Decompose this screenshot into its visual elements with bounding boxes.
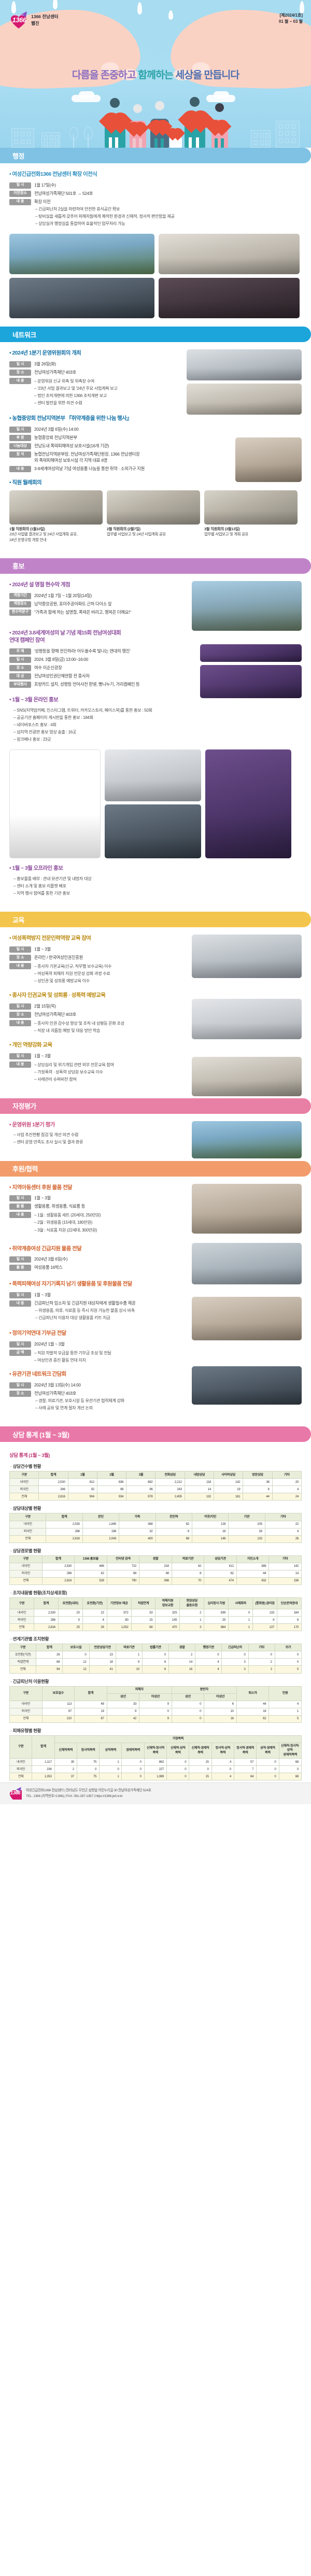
table-cell: 2,816 [46, 1535, 82, 1542]
sub-item: 직원 자발적 모금을 통한 기부금 조성 및 전달 [34, 1350, 111, 1356]
footer-logo-icon: 1366 [8, 1787, 22, 1801]
table-cell: 98 [97, 1486, 126, 1493]
table-row-label: 전체 [10, 1624, 34, 1631]
info-row: 일 시 2024년 3월 13일(수) 14:00 [9, 1382, 180, 1389]
table-cell: 142 [214, 1479, 243, 1486]
sub-item: 상담실과 행정실을 통합하여 효율적인 업무처리 가능 [35, 221, 302, 227]
photo-display-board[interactable] [205, 749, 291, 858]
table-header-cell: 정서적폭력 [77, 1743, 99, 1758]
row-tag: 주 제 [9, 648, 31, 655]
hands-illustration [0, 0, 311, 62]
row-text: 1월 ~ 3월 [34, 1195, 51, 1201]
row-text: 1월 ~ 3월 [34, 1292, 51, 1298]
table-cell: 0 [172, 1715, 204, 1722]
table-row: 전체2,8169049349782,4551321614424 [10, 1493, 302, 1501]
info-row: 나눔대상 전남도내 폭력피해여성 보호시설(16개 기관) [9, 443, 217, 449]
table-cell: 978 [126, 1493, 155, 1501]
item-network-2: 직원 월례회의 1월 직원회의 (1월10일) 23년 사업별 결과보고 및 2… [9, 479, 302, 543]
table-cell: 0 [172, 1708, 204, 1715]
table-cell: 35 [54, 1759, 77, 1766]
photo-sns-post[interactable] [9, 749, 101, 858]
table-cell: 62 [172, 1563, 204, 1570]
table-cell: 24 [272, 1493, 301, 1501]
photo-caption: 2월 직원회의 (2월7일) 업무별 사업보고 및 24년 사업계획 공유 [107, 527, 200, 537]
info-row: 장 소 전남여성가족재단 403호 [9, 1390, 180, 1397]
table-cell: 3 [222, 1666, 248, 1673]
table-cell: 0 [77, 1766, 99, 1773]
table-cell: 20 [58, 1609, 82, 1617]
table-row-label: 내국인 [10, 1609, 34, 1617]
item-network-0: 2024년 1분기 운영위원회의 개최 일 시 3월 26일(화) 장 소 전남… [9, 349, 175, 406]
sub-item: 3월 : 식료품 지원 (22세대, 300만원) [34, 1227, 101, 1234]
table-cell: 68 [107, 1570, 139, 1577]
info-row: 이전장소 전남여성가족재단 501호 → 524호 [9, 190, 302, 197]
table-cell: 366 [139, 1577, 172, 1584]
photo-banner-outdoor[interactable] [192, 581, 302, 631]
table-row: 외국인286548015145125146 [10, 1617, 302, 1624]
table-cell: 0 [257, 1766, 279, 1773]
table-cell: 14 [169, 1659, 195, 1666]
row-text: 2024년 1월 7일 ~ 1월 20일(14일) [34, 592, 92, 599]
table-cell: 722 [107, 1563, 139, 1570]
table-header-cell: 기타 [248, 1644, 275, 1651]
table-cell: 19 [75, 1708, 107, 1715]
table-row-label: 외국인 [10, 1528, 46, 1535]
statistics-area: 상담 통계 (1월 ~ 3월)상담건수별 현황구분합계1월2월3월전화상담내방상… [0, 1442, 311, 1780]
stat-table-title: 상담건수별 현황 [10, 1463, 311, 1469]
photo-campaign-1[interactable] [200, 644, 302, 662]
row-tag: 내 용 [9, 466, 31, 472]
stat-table: 구분합계보호시설전문상담기관의료기관법률기관경찰행정기관긴급피난처기타귀가호전환… [9, 1644, 302, 1673]
table-cell: 0 [63, 1651, 89, 1659]
people-illustration [0, 86, 311, 148]
table-row: 전체2,8162,0434006814613326 [10, 1535, 302, 1542]
table-cell: 20 [272, 1479, 301, 1486]
issue-period: 01 월 ~ 03 월 [279, 19, 303, 25]
photo-capacity-edu[interactable] [192, 1057, 302, 1096]
photo-donation-event[interactable] [235, 437, 302, 482]
table-cell: 10 [116, 1666, 142, 1673]
table-cell: 48 [139, 1570, 172, 1577]
hero-title-part3: 세상을 만듭니다 [175, 69, 239, 81]
info-row: 장 소 전남여성가족재단 403호 [9, 369, 175, 376]
table-header-cell: 성년 [172, 1693, 204, 1701]
table-cell: 4 [272, 1486, 301, 1493]
item-rows: 일 시 2024년 3월 13일(수) 14:00 장 소 전남여성가족재단 4… [9, 1382, 180, 1397]
caption-title: 3월 직원회의 (3월13일) [204, 527, 240, 531]
table-cell: 133 [253, 1609, 277, 1617]
table-row: 내국인1134833906444 [10, 1701, 302, 1708]
sub-item: 네이버포스트 홍보 : 4회 [13, 722, 302, 728]
table-cell: 12 [63, 1659, 89, 1666]
table-cell: 9 [107, 1708, 139, 1715]
stat-table-title: 상담대상별 현황 [10, 1505, 311, 1511]
table-cell: 105 [229, 1521, 265, 1528]
sub-item: 종사자 인권 감수성 향상 및 조직 내 성평등 문화 조성 [34, 1021, 124, 1027]
table-cell: 68 [131, 1624, 155, 1631]
table-header-cell: 신체적폭력 [54, 1743, 77, 1758]
table-header-cell: 성년 [107, 1693, 139, 1701]
row-tag: 일 시 [9, 1341, 31, 1348]
table-header-cell: 긴급피난처 [222, 1644, 248, 1651]
item-title: 유관기관 네트워크 간담회 [9, 1370, 180, 1378]
table-cell: 2 [169, 1651, 195, 1659]
table-cell: 53 [131, 1609, 155, 1617]
table-header-cell: 구분 [10, 1735, 32, 1758]
table-cell: 14 [185, 1486, 214, 1493]
sub-item: 홍보물품 배부 : 관내 유관기관 및 내방자 대상 [13, 876, 302, 882]
row-tag: 내 용 [9, 1212, 31, 1218]
table-header-cell: 기타 [265, 1513, 301, 1521]
table-header-cell: 기관 [229, 1513, 265, 1521]
table-cell: 210 [42, 1715, 75, 1722]
table-cell: 0 [122, 1759, 144, 1766]
table-cell: 0 [229, 1609, 253, 1617]
item-title: 개인 역량강화 교육 [9, 1041, 180, 1049]
info-row: 장 소 온라인 / 한국여성인권진흥원 [9, 954, 180, 961]
sub-item: 사례 공유 및 연계 절차 개선 논의 [35, 1405, 180, 1411]
item-title: 2024년 설 명절 현수막 게첨 [9, 581, 180, 589]
table-cell: 132 [185, 1493, 214, 1501]
table-header-cell: 사례회의 [229, 1597, 253, 1609]
table-cell: 790 [107, 1577, 139, 1584]
table-cell: 2,530 [42, 1563, 75, 1570]
photo-goods-delivery[interactable] [192, 1184, 302, 1234]
table-header-cell: 지인소개 [236, 1555, 269, 1563]
table-cell: 3 [222, 1659, 248, 1666]
table-cell: 286 [46, 1528, 82, 1535]
row-tag: 물 품 [9, 1265, 31, 1271]
stat-table-title: 긴급피난처 이용현황 [10, 1678, 311, 1685]
table-cell: 118 [185, 1479, 214, 1486]
photo-committee-screen[interactable] [187, 349, 302, 380]
table-header-cell: 구분 [10, 1513, 46, 1521]
row-tag: 물 품 [9, 1204, 31, 1210]
table-cell: 2 [54, 1766, 77, 1773]
table-header-cell: 2월 [97, 1471, 126, 1479]
info-row: 내 용 3·8세계여성의날 기념 여성용품 나눔을 통한 취약 · 소외가구 지… [9, 465, 217, 472]
row-text: 1월 17일(수) [34, 182, 56, 188]
table-cell: 1 [100, 1759, 122, 1766]
table-row-label: 전체 [10, 1715, 43, 1722]
table-cell: 145 [155, 1617, 180, 1624]
table-header-cell: 성적·경제적 폭력 [257, 1743, 279, 1758]
row-tag: 장 소 [9, 665, 31, 671]
sub-item: 센터 운영 만족도 조사 실시 및 결과 환류 [13, 1139, 180, 1145]
sub-item: 사업 추진현황 점검 및 개선 의견 수렴 [13, 1132, 180, 1138]
table-cell: 4 [195, 1659, 222, 1666]
table-cell: 2,816 [42, 1577, 75, 1584]
photo-block: 1월 직원회의 (1월10일) 23년 사업별 결과보고 및 24년 사업계획 … [9, 490, 103, 543]
row-tag: 일 시 [9, 1256, 31, 1263]
table-cell: 67 [75, 1715, 107, 1722]
row-tag: 장 소 [9, 955, 31, 961]
sub-list: 홍보물품 배부 : 관내 유관기관 및 내방자 대상 센터 소개 및 홍보 리플… [9, 876, 302, 897]
photo-mar-meeting[interactable] [204, 490, 298, 525]
table-header-cell: 피해지원 정보교환 [155, 1597, 180, 1609]
sub-item: 여성폭력 피해자 지원 전문성 강화 과정 수료 [34, 971, 111, 977]
table-cell: 1,353 [32, 1773, 54, 1780]
table-header-cell: 내방상담 [185, 1471, 214, 1479]
info-row: 내 용 상담심리 및 위기개입 관련 외부 전문교육 참여 가정폭력 · 성폭력… [9, 1061, 180, 1083]
table-header-cell: 구분 [10, 1471, 39, 1479]
item-rows: 일 시 1월 ~ 3월 내 용 상담심리 및 위기개입 관련 외부 전문교육 참… [9, 1053, 180, 1083]
item-rows: 게첨기간 2024년 1월 7일 ~ 1월 20일(14일) 게첨장소 남악중앙… [9, 592, 180, 616]
table-header-cell: 상담기관 [204, 1555, 237, 1563]
photo-caption: 1월 직원회의 (1월10일) 23년 사업별 결과보고 및 24년 사업계획 … [9, 527, 103, 543]
table-cell: 15 [131, 1617, 155, 1624]
section-header-pr: 홍보 [0, 558, 311, 574]
item-rows: 일 시 1월 ~ 3월 물 품 생활용품, 위생용품, 식료품 등 내 용 1월… [9, 1195, 180, 1233]
section-body-pr: 2024년 설 명절 현수막 게첨 게첨기간 2024년 1월 7일 ~ 1월 … [0, 574, 311, 912]
item-support-0: 지역아동센터 후원 물품 전달 일 시 1월 ~ 3월 물 품 생활용품, 위생… [9, 1184, 180, 1234]
table-cell: 75 [77, 1759, 99, 1766]
photo-offline-promo[interactable] [105, 804, 201, 858]
item-title: 여성폭력방지 전문인력역량 교육 참여 [9, 935, 180, 942]
item-self-0: 운영위원 1분기 평가 사업 추진현황 점검 및 개선 의견 수렴 센터 운영 … [9, 1121, 180, 1146]
table-row-label: 직접연계 [10, 1659, 36, 1666]
table-group-header: 가정폭력 [54, 1735, 301, 1743]
caption-desc: 업무별 사업보고 및 계획 공유 [204, 532, 248, 536]
row-text: 여성용품 16박스 [34, 1264, 63, 1270]
table-row: 전체1,3533775101,089015464068 [10, 1773, 302, 1780]
table-cell: 198 [82, 1528, 119, 1535]
table-cell: 1 [100, 1773, 122, 1780]
photo-column [105, 749, 201, 858]
item-rows: 일 시 1월 ~ 3월 내 용 긴급피난처 입소자 및 긴급지원 대상자에게 생… [9, 1292, 180, 1307]
table-cell: 904 [68, 1493, 97, 1501]
table-row-label: 전체 [10, 1666, 36, 1673]
photo-supplies-boxes[interactable] [192, 1297, 302, 1340]
photo-evaluation[interactable] [192, 1121, 302, 1158]
table-cell: 2,816 [39, 1493, 68, 1501]
row-tag: 일 시 [9, 946, 31, 953]
table-row: 전체21067429016625 [10, 1715, 302, 1722]
row-text: 생활용품, 위생용품, 식료품 등 [34, 1203, 85, 1209]
photo-feb-meeting[interactable] [107, 490, 200, 525]
section-header-support: 후원/협력 [0, 1161, 311, 1177]
photo-training-room[interactable] [192, 935, 302, 978]
row-tag: 내 용 [9, 1061, 31, 1068]
stat-table: 구분합계1월2월3월전화상담내방상담사이버상담방문상담기타내국인2,530812… [9, 1471, 302, 1501]
info-row: 일 시 3월 26일(화) [9, 361, 175, 367]
table-row: 호전환(기관)260231020000 [10, 1651, 302, 1659]
item-title: 1월 ~ 3월 오프라인 홍보 [9, 865, 302, 872]
photo-gallery [9, 278, 302, 318]
table-cell: 325 [155, 1609, 180, 1617]
photo-gallery-pr1 [192, 581, 302, 631]
row-tag: 이전장소 [9, 191, 31, 197]
photo-gallery-pr2 [200, 644, 302, 698]
table-cell: 137 [253, 1624, 277, 1631]
table-header-cell: 친인척 [155, 1513, 192, 1521]
cloud-icon [79, 91, 94, 98]
table-cell: 19 [214, 1486, 243, 1493]
sub-list: 1월 : 생활용품 세트 (20세대, 250만원) 2월 : 위생용품 (15… [34, 1212, 101, 1233]
item-support-1: 취약계층여성 긴급지원 물품 전달 일 시 2024년 3월 6일(수) 물 품… [9, 1245, 180, 1271]
table-cell: 41 [89, 1666, 116, 1673]
table-header-cell: 전화상담 [155, 1471, 185, 1479]
item-rows: 일 시 1월 ~ 3월 장 소 온라인 / 한국여성인권진흥원 내 용 종사자 … [9, 946, 180, 984]
row-text: 확장 이전 [34, 199, 50, 205]
table-row-label: 내국인 [10, 1479, 39, 1486]
table-header-cell: 경제적폭력 [122, 1743, 144, 1758]
table-row-label: 전체 [10, 1493, 39, 1501]
table-cell: 2,530 [46, 1521, 82, 1528]
table-cell: 0 [275, 1651, 301, 1659]
photo-gallery-online [9, 749, 302, 858]
photo-gallery-monthly: 1월 직원회의 (1월10일) 23년 사업별 결과보고 및 24년 사업계획 … [9, 490, 302, 543]
row-tag: 게첨장소 [9, 601, 31, 607]
table-header-cell: 심리정서 지원 [204, 1597, 229, 1609]
photo-committee-meeting[interactable] [187, 384, 302, 415]
photo-campaign-2[interactable] [200, 665, 302, 698]
table-cell: 15 [189, 1759, 211, 1766]
logo-text: 1366 전남센터 웹진 [31, 13, 59, 26]
table-header-cell: 방문상담 [243, 1471, 272, 1479]
info-row: 일 시 1월 ~ 3월 [9, 1053, 180, 1059]
photo-new-office[interactable] [159, 234, 300, 274]
table-header-cell: 동반자 [172, 1686, 236, 1693]
row-tag: 금 액 [9, 1350, 31, 1356]
section-header-admin: 행정 [0, 148, 311, 163]
sub-item: 링크배너 홍보 : 23곳 [13, 737, 302, 743]
photo-human-rights-edu[interactable] [192, 999, 302, 1039]
section-header-self: 자정평가 [0, 1098, 311, 1114]
building-icon [276, 121, 300, 148]
sub-item: 경찰, 의료기관, 보호시설 등 유관기관 협력체계 강화 [35, 1398, 180, 1404]
sub-list: SNS(지역맘카페, 인스타그램, 트위터, 카카오스토리, 페이스북)를 통한… [9, 707, 302, 743]
table-header-cell: 인원 [269, 1686, 302, 1701]
item-admin-0: 여성긴급전화1366 전남센터 확장 이전식 일 시 1월 17일(수) 이전장… [9, 171, 302, 227]
table-header-cell: 구분 [10, 1644, 36, 1651]
hero-title: 다름을 존중하고 함께하는 세상을 만듭니다 [0, 66, 311, 81]
photo-jan-meeting[interactable] [9, 490, 103, 525]
table-row: 내국인2,5301,8453686212810522 [10, 1521, 302, 1528]
photo-naver-post[interactable] [105, 749, 201, 801]
table-cell: 1 [229, 1624, 253, 1631]
table-cell: 0 [211, 1766, 234, 1773]
table-cell: 6 [142, 1659, 168, 1666]
info-row: 일 시 1월 ~ 3월 [9, 946, 180, 953]
table-header-cell: 경찰 [139, 1555, 172, 1563]
table-cell: 16 [169, 1666, 195, 1673]
table-cell: 28 [229, 1528, 265, 1535]
table-header-cell: 미성년 [204, 1693, 237, 1701]
table-cell: 44 [236, 1701, 269, 1708]
table-row: 외국인2864268488624414 [10, 1570, 302, 1577]
stat-table-title: 연계기관별 조치현황 [10, 1636, 311, 1642]
table-header-cell: 신체적·경제적 폭력 [189, 1743, 211, 1758]
item-edu-0: 여성폭력방지 전문인력역량 교육 참여 일 시 1월 ~ 3월 장 소 온라인 … [9, 935, 180, 984]
table-cell: 8 [172, 1570, 204, 1577]
table-header-cell: 정서적·성적 폭력 [211, 1743, 234, 1758]
item-rows: 일 시 1월 17일(수) 이전장소 전남여성가족재단 501호 → 524호 … [9, 182, 302, 205]
logo[interactable]: 여성긴급전화 1366 1366 전남센터 웹진 [9, 11, 59, 29]
page-footer: 1366 여성긴급전화1366 전남센터 | 전라남도 무안군 삼향읍 어진누리… [0, 1782, 311, 1804]
table-cell: 0 [248, 1651, 275, 1659]
table-cell: 4 [211, 1759, 234, 1766]
table-cell: 243 [155, 1486, 185, 1493]
sub-list: 경찰, 의료기관, 보호시설 등 유관기관 협력체계 강화 사례 공유 및 연계… [9, 1398, 180, 1411]
webzine-page: 여성긴급전화 1366 1366 전남센터 웹진 [제2024/1호] 01 월… [0, 0, 311, 2576]
info-row: 부대행사 프랑카드 설치, 성평등 언어사전 판넬, 빵나누기, 거리캠페인 등 [9, 681, 186, 688]
info-row: 일 시 2024. 3월 8일(금) 13:00~16:00 [9, 656, 186, 663]
info-row: 금 액 직원 자발적 모금을 통한 기부금 조성 및 전달 여성인권 증진 활동… [9, 1349, 180, 1364]
building-icon [41, 132, 60, 148]
table-cell: 0 [172, 1701, 204, 1708]
item-title: 정의기억연대 기부금 전달 [9, 1329, 180, 1337]
item-pr-2: 1월 ~ 3월 온라인 홍보 SNS(지역맘카페, 인스타그램, 트위터, 카카… [9, 696, 302, 743]
table-header-cell: 보호일수 [42, 1686, 75, 1701]
table-cell: 7 [234, 1766, 256, 1773]
photo-group-shot[interactable] [9, 278, 154, 318]
table-cell: 1 [269, 1708, 302, 1715]
table-row: 외국인971990010181 [10, 1708, 302, 1715]
table-header-cell: 호전환(내부) [58, 1597, 82, 1609]
photo-gallery [9, 234, 302, 274]
table-cell: 9 [139, 1701, 172, 1708]
tree-icon [68, 126, 79, 148]
row-tag: 일 시 [9, 427, 31, 433]
table-cell: 864 [204, 1624, 229, 1631]
table-cell: 0 [279, 1766, 301, 1773]
table-cell: 75 [77, 1773, 99, 1780]
section-header-network: 네트워크 [0, 327, 311, 342]
cloud-icon [214, 91, 229, 98]
sub-item: 사례관리 슈퍼비전 참여 [34, 1077, 114, 1083]
item-pr-0: 2024년 설 명절 현수막 게첨 게첨기간 2024년 1월 7일 ~ 1월 … [9, 581, 180, 616]
table-header-cell: 본인 [82, 1513, 119, 1521]
stat-table: 구분보호일수합계피해자동반자퇴소자인원성년미성년성년미성년내국인11348339… [9, 1686, 302, 1723]
table-header-cell: 성적폭력 [100, 1743, 122, 1758]
photo-cake-cutting[interactable] [159, 278, 300, 318]
stat-table: 구분합계가정폭력신체적폭력정서적폭력성적폭력경제적폭력신체적·정서적 폭력신체적… [9, 1735, 302, 1780]
sub-item: 위생용품, 의류, 식료품 등 즉시 지원 가능한 물품 상시 비축 [35, 1308, 180, 1314]
table-header-cell: 사이버상담 [214, 1471, 243, 1479]
item-edu-2: 개인 역량강화 교육 일 시 1월 ~ 3월 내 용 상담심리 및 위기개입 관… [9, 1041, 180, 1083]
table-cell: 94 [36, 1666, 63, 1673]
table-row-label: 내국인 [10, 1701, 43, 1708]
row-tag: 일 시 [9, 361, 31, 367]
table-row: 직접연계68121896144320 [10, 1659, 302, 1666]
row-tag: 내 용 [9, 199, 31, 205]
info-row: 물 품 여성용품 16박스 [9, 1264, 180, 1271]
photo-emergency-kit[interactable] [192, 1243, 302, 1284]
photo-network-meeting[interactable] [192, 1366, 302, 1405]
sub-item: 상담심리 및 위기개입 관련 외부 전문교육 참여 [34, 1062, 114, 1068]
row-text: "가족과 함께 하는 설명절, 폭력은 버리고, 행복은 더해요!" [34, 609, 131, 615]
table-cell: 22 [82, 1609, 107, 1617]
photo-ceremony-banner[interactable] [9, 234, 154, 274]
item-title: 여성긴급전화1366 전남센터 확장 이전식 [9, 171, 302, 178]
row-text: 2024. 3월 8일(금) 13:00~16:00 [34, 656, 88, 662]
item-title: 2024년 1분기 운영위원회의 개최 [9, 349, 175, 357]
table-cell: 16 [204, 1715, 237, 1722]
sub-list: 위생용품, 의류, 식료품 등 즉시 지원 가능한 물품 상시 비축 긴급피난처… [9, 1308, 180, 1321]
info-row: 장 소 전남여성가족재단 403호 [9, 1011, 180, 1018]
item-rows: 일 시 2024년 3월 6일(수) 14:00 후 원 농협중앙회 전남지역본… [9, 426, 217, 472]
row-tag: 일 시 [9, 1195, 31, 1201]
photo-gallery-sup1 [192, 1184, 302, 1234]
sub-list: 사업 추진현황 점검 및 개선 의견 수렴 센터 운영 만족도 조사 실시 및 … [9, 1132, 180, 1145]
table-header-cell: 합계 [32, 1735, 54, 1758]
sub-item: 긴급피난처 이용자 대상 생활용품 키트 지급 [35, 1315, 180, 1321]
table-cell: 18 [192, 1528, 228, 1535]
row-text: 전남도내 폭력피해여성 보호시설(16개 기관) [34, 443, 109, 449]
table-header-cell: 귀가 [275, 1644, 301, 1651]
photo-gallery-share [235, 437, 302, 482]
